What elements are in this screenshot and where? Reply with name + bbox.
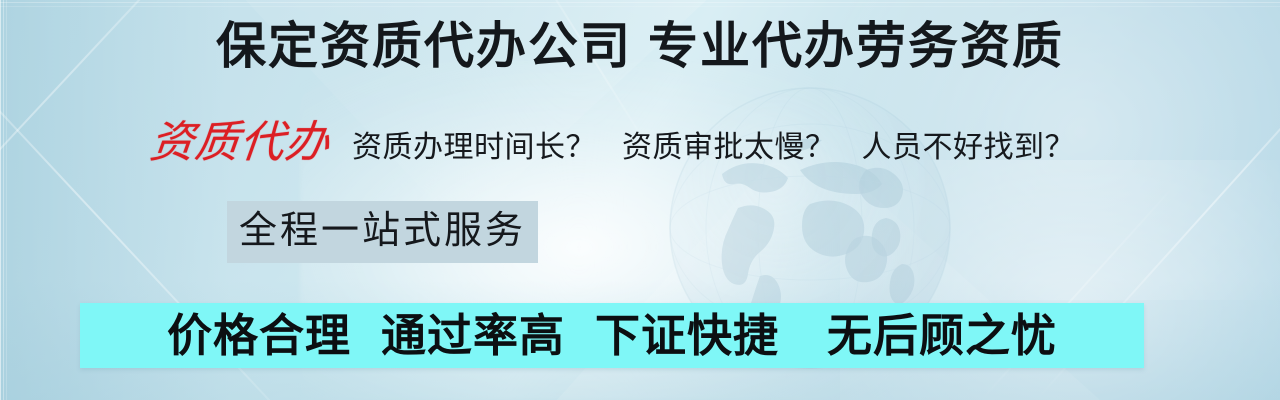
pain-point-3: 人员不好找到？ [862, 126, 1076, 170]
benefit-2: 通过率高 [381, 308, 565, 364]
pain-point-2: 资质审批太慢？ [622, 126, 836, 170]
edge-guide-line [0, 6, 1280, 7]
benefits-bar: 价格合理 通过率高 下证快捷 无后顾之忧 [80, 303, 1144, 368]
edge-guide-line [0, 2, 1280, 3]
promo-banner: 保定资质代办公司 专业代办劳务资质 资质代办 资质办理时间长？ 资质审批太慢？ … [0, 0, 1280, 400]
benefit-3: 下证快捷 [595, 308, 779, 364]
pain-point-row: 资质代办 资质办理时间长？ 资质审批太慢？ 人员不好找到？ [150, 118, 1210, 170]
service-promise-badge: 全程一站式服务 [227, 201, 538, 263]
pain-point-1: 资质办理时间长？ [352, 126, 596, 170]
benefit-4: 无后顾之忧 [827, 308, 1057, 364]
benefit-1: 价格合理 [167, 308, 351, 364]
banner-headline: 保定资质代办公司 专业代办劳务资质 [0, 16, 1280, 76]
brand-stamp-text: 资质代办 [147, 118, 332, 168]
